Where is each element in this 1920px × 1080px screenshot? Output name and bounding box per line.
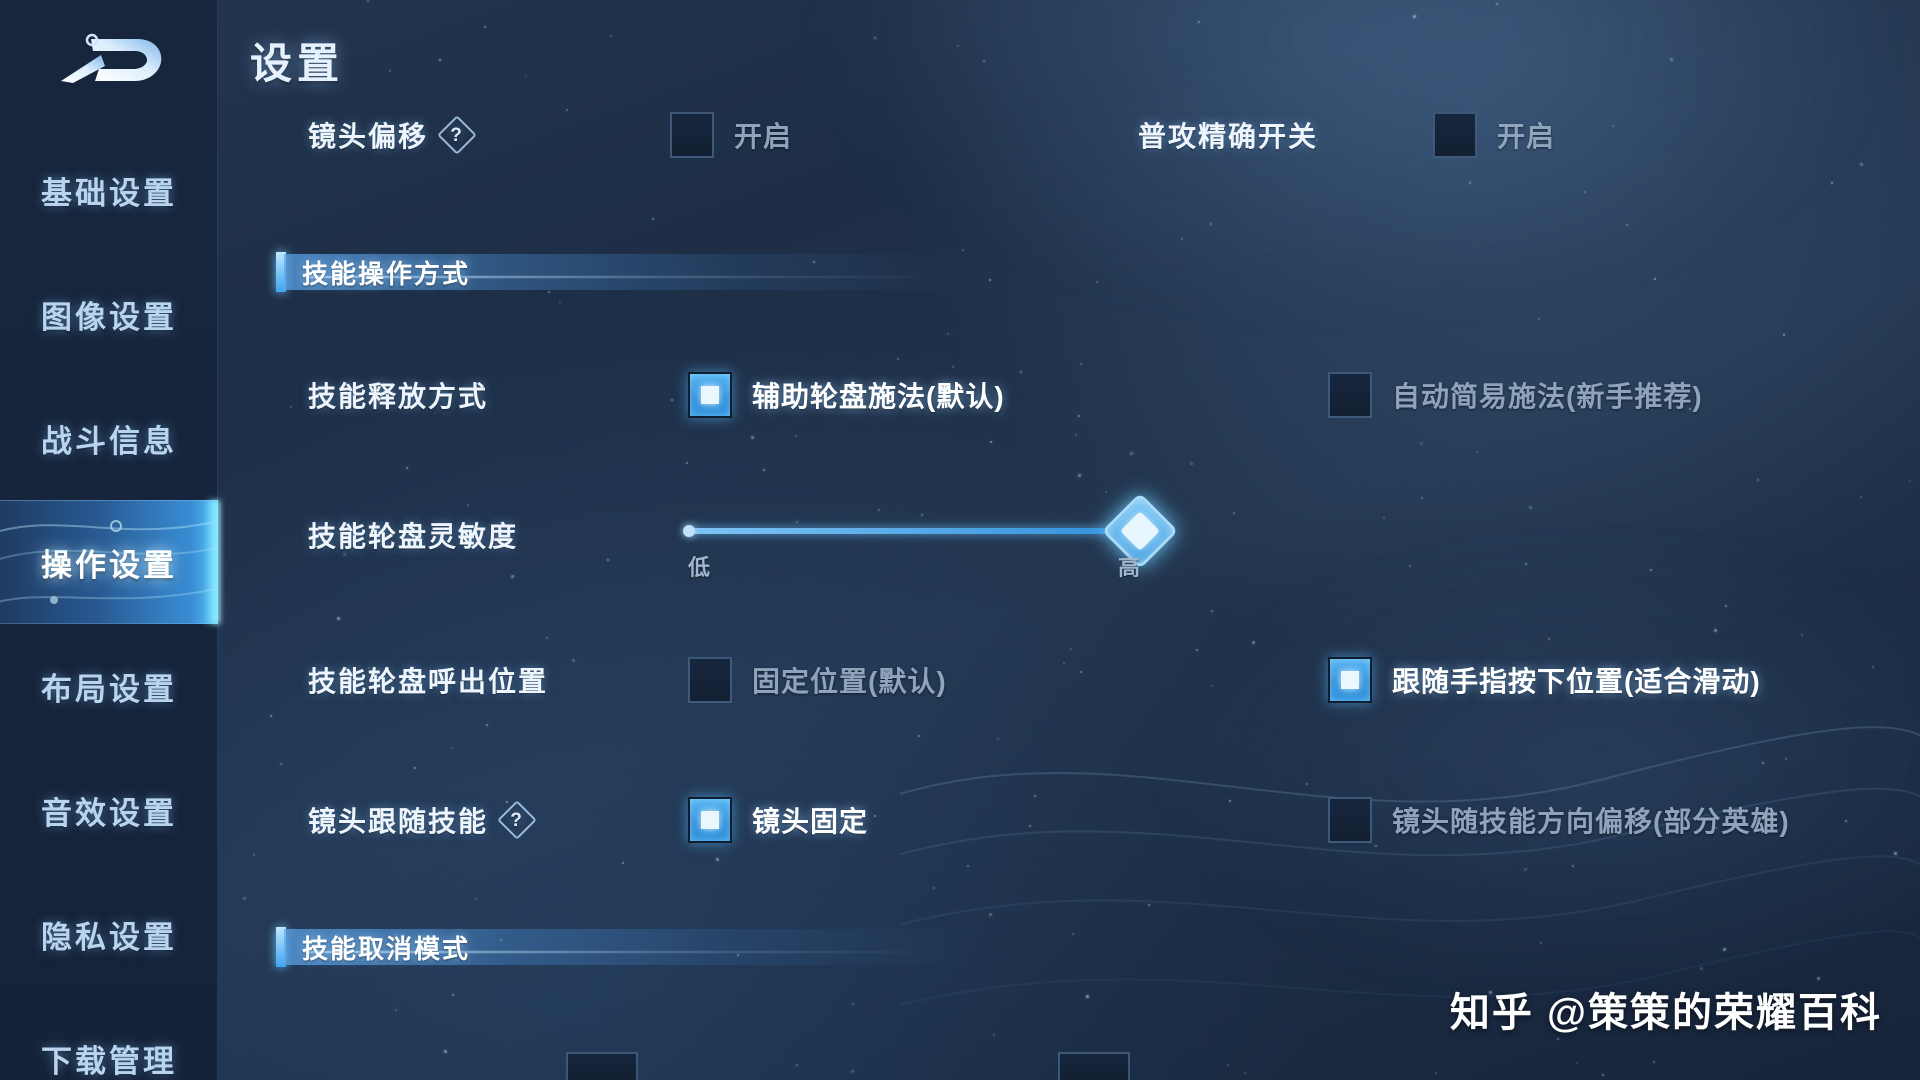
main-content: 设置 镜头偏移 ? 开启 普攻精确开关 开启 <box>218 0 1920 1080</box>
sidebar-item-label: 隐私设置 <box>41 912 177 957</box>
label-skill-wheel-position: 技能轮盘呼出位置 <box>308 660 548 700</box>
sidebar-item-2[interactable]: 战斗信息 <box>0 376 218 500</box>
section-header-skill-operation: 技能操作方式 <box>276 250 976 294</box>
option-wheel-fixed-position[interactable]: 固定位置(默认) <box>688 657 947 703</box>
label-basic-attack-precision: 普攻精确开关 <box>1138 115 1318 155</box>
checkbox-partial-bottom[interactable] <box>566 1052 638 1080</box>
label-skill-release-mode-text: 技能释放方式 <box>308 375 488 415</box>
checkbox-wheel-fixed-position[interactable] <box>688 657 732 703</box>
checkbox-wheel-follow-finger[interactable] <box>1328 657 1372 703</box>
option-camera-offset-with-skill-label: 镜头随技能方向偏移(部分英雄) <box>1392 800 1790 840</box>
label-skill-wheel-sensitivity-text: 技能轮盘灵敏度 <box>308 515 518 555</box>
label-camera-offset: 镜头偏移 ? <box>308 115 474 155</box>
label-skill-release-mode: 技能释放方式 <box>308 375 488 415</box>
sidebar-item-label: 基础设置 <box>41 168 177 213</box>
checkbox-camera-offset-enable[interactable] <box>670 112 714 158</box>
label-camera-follow-skill-text: 镜头跟随技能 <box>308 800 488 840</box>
row-camera-follow-skill: 镜头跟随技能 ? 镜头固定 镜头随技能方向偏移(部分英雄) <box>218 785 1920 855</box>
slider-min-label: 低 <box>688 550 710 582</box>
sidebar-item-label: 布局设置 <box>41 664 177 709</box>
section-header-skill-cancel: 技能取消模式 <box>276 925 976 969</box>
option-camera-fixed[interactable]: 镜头固定 <box>688 797 868 843</box>
row-skill-release-mode: 技能释放方式 辅助轮盘施法(默认) 自动简易施法(新手推荐) <box>218 360 1920 430</box>
option-basic-attack-precision-enable[interactable]: 开启 <box>1433 112 1555 158</box>
sidebar-item-4[interactable]: 布局设置 <box>0 624 218 748</box>
sidebar-item-label: 下载管理 <box>41 1036 177 1080</box>
checkbox-partial-bottom[interactable] <box>1058 1052 1130 1080</box>
slider-track[interactable] <box>688 528 1140 534</box>
question-diamond-icon[interactable]: ? <box>500 803 534 837</box>
sidebar: 基础设置图像设置战斗信息操作设置布局设置音效设置隐私设置下载管理 <box>0 0 218 1080</box>
checkbox-basic-attack-precision-enable[interactable] <box>1433 112 1477 158</box>
sidebar-item-7[interactable]: 下载管理 <box>0 996 218 1080</box>
sidebar-item-label: 操作设置 <box>41 540 177 585</box>
option-camera-fixed-label: 镜头固定 <box>752 800 868 840</box>
sidebar-item-0[interactable]: 基础设置 <box>0 128 218 252</box>
option-camera-offset-enable-label: 开启 <box>734 115 792 155</box>
slider-fill <box>688 528 1140 534</box>
checkbox-skill-release-auto[interactable] <box>1328 372 1372 418</box>
option-skill-release-auto-label: 自动简易施法(新手推荐) <box>1392 375 1703 415</box>
label-camera-follow-skill: 镜头跟随技能 ? <box>308 800 534 840</box>
section-header-skill-operation-text: 技能操作方式 <box>302 254 470 291</box>
option-camera-offset-with-skill[interactable]: 镜头随技能方向偏移(部分英雄) <box>1328 797 1790 843</box>
checkbox-camera-fixed[interactable] <box>688 797 732 843</box>
checkbox-camera-offset-with-skill[interactable] <box>1328 797 1372 843</box>
row-camera-offset: 镜头偏移 ? 开启 普攻精确开关 开启 <box>218 100 1920 170</box>
option-basic-attack-precision-enable-label: 开启 <box>1497 115 1555 155</box>
slider-start-dot <box>683 525 695 537</box>
sidebar-item-3[interactable]: 操作设置 <box>0 500 218 624</box>
page-title: 设置 <box>250 30 344 91</box>
label-camera-offset-text: 镜头偏移 <box>308 115 428 155</box>
sidebar-item-label: 音效设置 <box>41 788 177 833</box>
sidebar-nav: 基础设置图像设置战斗信息操作设置布局设置音效设置隐私设置下载管理 <box>0 128 218 1080</box>
option-skill-release-wheel[interactable]: 辅助轮盘施法(默认) <box>688 372 1005 418</box>
label-skill-wheel-sensitivity: 技能轮盘灵敏度 <box>308 515 518 555</box>
slider-skill-wheel-sensitivity[interactable]: 低 高 <box>688 528 1140 534</box>
settings-screen: 基础设置图像设置战斗信息操作设置布局设置音效设置隐私设置下载管理 设置 镜头偏移… <box>0 0 1920 1080</box>
sidebar-item-label: 战斗信息 <box>41 416 177 461</box>
swoosh-logo-icon <box>43 17 175 91</box>
sidebar-item-5[interactable]: 音效设置 <box>0 748 218 872</box>
option-skill-release-auto[interactable]: 自动简易施法(新手推荐) <box>1328 372 1703 418</box>
label-skill-wheel-position-text: 技能轮盘呼出位置 <box>308 660 548 700</box>
question-diamond-icon[interactable]: ? <box>440 118 474 152</box>
watermark: 知乎 @策策的荣耀百科 <box>1450 980 1882 1038</box>
app-logo <box>0 6 218 102</box>
option-wheel-follow-finger-label: 跟随手指按下位置(适合滑动) <box>1392 660 1761 700</box>
row-skill-wheel-sensitivity: 技能轮盘灵敏度 低 高 <box>218 500 1920 570</box>
slider-scale: 低 高 <box>688 550 1140 582</box>
option-camera-offset-enable[interactable]: 开启 <box>670 112 792 158</box>
slider-max-label: 高 <box>1118 550 1140 582</box>
checkbox-skill-release-wheel[interactable] <box>688 372 732 418</box>
option-wheel-follow-finger[interactable]: 跟随手指按下位置(适合滑动) <box>1328 657 1761 703</box>
label-basic-attack-precision-text: 普攻精确开关 <box>1138 115 1318 155</box>
row-skill-wheel-position: 技能轮盘呼出位置 固定位置(默认) 跟随手指按下位置(适合滑动) <box>218 645 1920 715</box>
section-header-skill-cancel-text: 技能取消模式 <box>302 929 470 966</box>
option-wheel-fixed-position-label: 固定位置(默认) <box>752 660 947 700</box>
sidebar-item-1[interactable]: 图像设置 <box>0 252 218 376</box>
option-skill-release-wheel-label: 辅助轮盘施法(默认) <box>752 375 1005 415</box>
sidebar-item-label: 图像设置 <box>41 292 177 337</box>
sidebar-item-6[interactable]: 隐私设置 <box>0 872 218 996</box>
